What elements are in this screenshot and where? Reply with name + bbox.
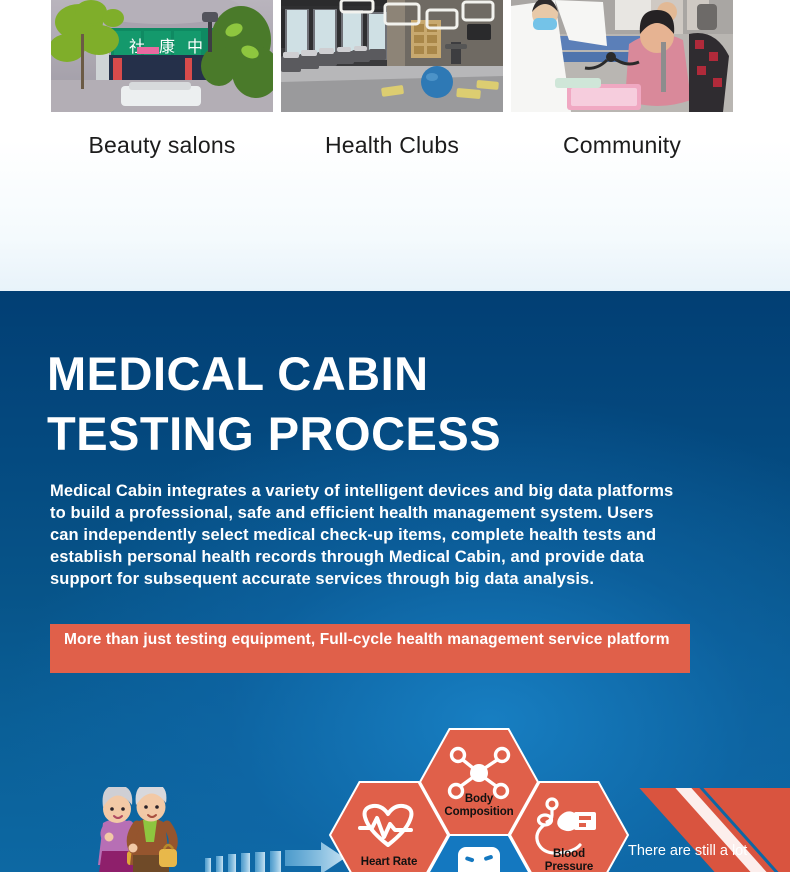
page-title: MEDICAL CABIN TESTING PROCESS bbox=[47, 344, 747, 464]
venue-thumbnail-community bbox=[511, 0, 733, 112]
test-item-hexagons: Body Composition Heart Rate bbox=[318, 729, 648, 872]
device-pad-icon bbox=[458, 847, 500, 872]
highlight-callout: More than just testing equipment, Full-c… bbox=[50, 624, 690, 673]
right-side-note: There are still a lot bbox=[628, 842, 790, 860]
elderly-couple-illustration bbox=[85, 787, 185, 872]
svg-text:康: 康 bbox=[159, 37, 175, 56]
page-root: 社 康 中 bbox=[0, 0, 790, 872]
venue-thumbnail-beauty-salons: 社 康 中 bbox=[51, 0, 273, 112]
venue-caption: Beauty salons bbox=[51, 132, 273, 159]
hexagon-label-line-2: Composition bbox=[444, 806, 513, 818]
hexagon-device-pad[interactable] bbox=[420, 835, 538, 872]
venue-thumbnail-health-clubs bbox=[281, 0, 503, 112]
medical-cabin-process-section: MEDICAL CABIN TESTING PROCESS Medical Ca… bbox=[0, 291, 790, 872]
hexagon-label-line-1: Blood bbox=[553, 848, 585, 860]
hexagon-label-line-2: Pressure bbox=[545, 861, 593, 872]
venue-card-health-clubs[interactable]: Health Clubs bbox=[281, 0, 503, 112]
hexagon-label-line-1: Body bbox=[465, 793, 493, 805]
headline-line-2: TESTING PROCESS bbox=[47, 404, 747, 464]
venue-cards-section: 社 康 中 bbox=[0, 0, 790, 291]
venue-caption: Health Clubs bbox=[281, 132, 503, 159]
venue-caption: Community bbox=[511, 132, 733, 159]
headline-line-1: MEDICAL CABIN bbox=[47, 347, 429, 400]
svg-text:中: 中 bbox=[187, 37, 203, 56]
venue-card-community[interactable]: Community bbox=[511, 0, 733, 112]
section-description: Medical Cabin integrates a variety of in… bbox=[50, 481, 680, 591]
venue-card-list: 社 康 中 bbox=[0, 0, 790, 175]
venue-card-beauty-salons[interactable]: 社 康 中 bbox=[51, 0, 273, 112]
